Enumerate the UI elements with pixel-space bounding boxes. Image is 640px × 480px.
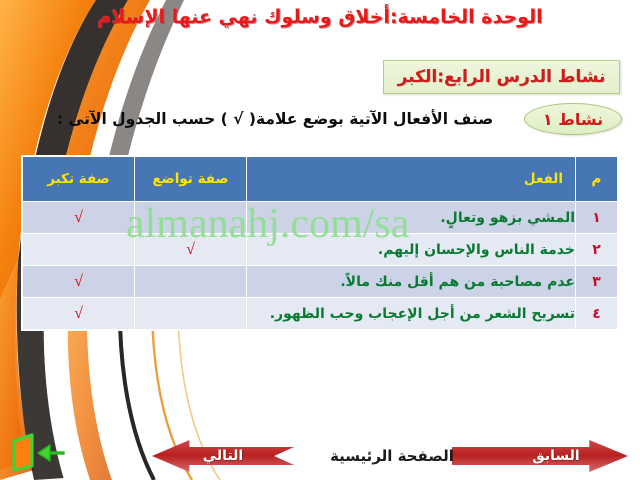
table-header: م الفعل صفة تواضع صفة تكبر [23, 157, 618, 202]
column-header-arrogance: صفة تكبر [23, 157, 135, 202]
column-header-humility: صفة تواضع [135, 157, 247, 202]
previous-button-label: السابق [532, 448, 579, 464]
table-row: ٣ عدم مصاحبة من هم أقل منك مالاً. √ [23, 266, 618, 298]
row-humility-mark[interactable] [135, 298, 247, 330]
activity-table: م الفعل صفة تواضع صفة تكبر ١ المشي بزهو … [22, 156, 618, 330]
row-number: ٤ [576, 298, 618, 330]
row-action-text: المشي بزهو وتعالٍ. [247, 202, 576, 234]
column-header-action: الفعل [247, 157, 576, 202]
row-action-text: تسريح الشعر من أجل الإعجاب وحب الظهور. [247, 298, 576, 330]
row-number: ٣ [576, 266, 618, 298]
next-button-label: التالي [203, 448, 243, 464]
activity-badge-label: نشاط ١ [543, 110, 603, 129]
table-row: ٤ تسريح الشعر من أجل الإعجاب وحب الظهور.… [23, 298, 618, 330]
row-humility-mark[interactable]: √ [135, 234, 247, 266]
activity-instruction: صنف الأفعال الآتية بوضع علامة( √ ) حسب ا… [30, 110, 514, 128]
row-arrogance-mark[interactable] [23, 234, 135, 266]
column-header-number: م [576, 157, 618, 202]
unit-title: الوحدة الخامسة:أخلاق وسلوك نهي عنها الإس… [0, 6, 640, 28]
navigation-bar: التالي الصفحة الرئيسية السابق [152, 440, 628, 472]
table-row: ١ المشي بزهو وتعالٍ. √ [23, 202, 618, 234]
table-body: ١ المشي بزهو وتعالٍ. √ ٢ خدمة الناس والإ… [23, 202, 618, 330]
row-arrogance-mark[interactable]: √ [23, 266, 135, 298]
row-number: ٢ [576, 234, 618, 266]
lesson-title-label: نشاط الدرس الرابع:الكبر [398, 67, 606, 87]
lesson-title-box: نشاط الدرس الرابع:الكبر [383, 60, 620, 94]
row-arrogance-mark[interactable]: √ [23, 298, 135, 330]
exit-door-icon[interactable] [8, 432, 70, 474]
home-button-label: الصفحة الرئيسية [330, 447, 454, 465]
row-humility-mark[interactable] [135, 202, 247, 234]
row-arrogance-mark[interactable]: √ [23, 202, 135, 234]
row-action-text: خدمة الناس والإحسان إليهم. [247, 234, 576, 266]
row-action-text: عدم مصاحبة من هم أقل منك مالاً. [247, 266, 576, 298]
row-humility-mark[interactable] [135, 266, 247, 298]
table-row: ٢ خدمة الناس والإحسان إليهم. √ [23, 234, 618, 266]
slide-canvas: الوحدة الخامسة:أخلاق وسلوك نهي عنها الإس… [0, 0, 640, 480]
previous-button[interactable]: السابق [452, 440, 628, 472]
table-header-row: م الفعل صفة تواضع صفة تكبر [23, 157, 618, 202]
row-number: ١ [576, 202, 618, 234]
activity-badge: نشاط ١ [524, 103, 622, 135]
activity-row: نشاط ١ صنف الأفعال الآتية بوضع علامة( √ … [30, 103, 622, 135]
exit-door-glyph [8, 432, 70, 474]
